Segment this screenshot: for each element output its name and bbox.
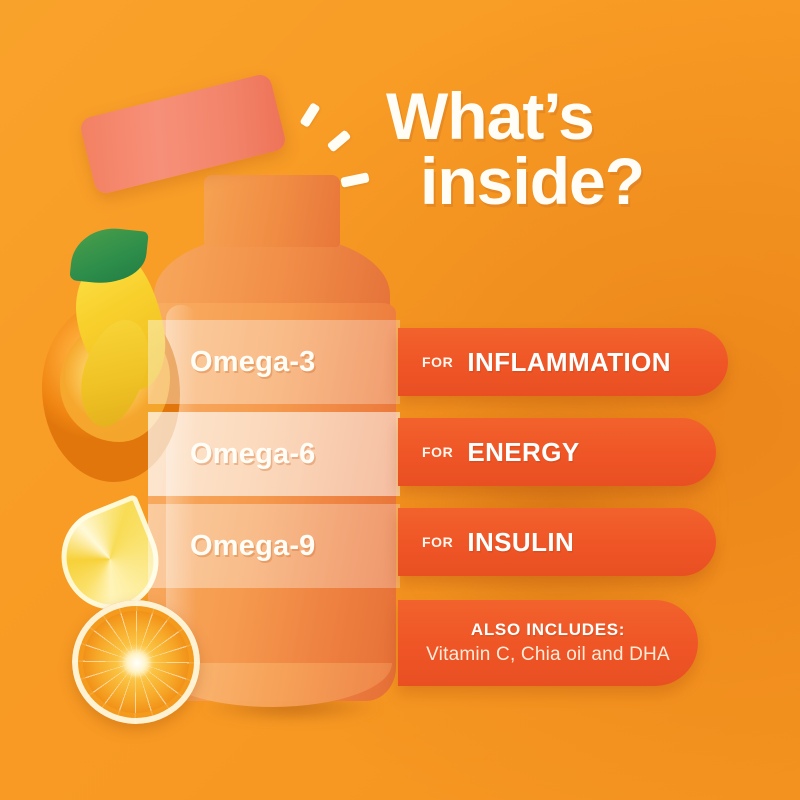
bottle-label-strip-omega-9: Omega-9 (148, 504, 400, 588)
omega-9-label: Omega-9 (190, 530, 316, 563)
omega-3-label: Omega-3 (190, 346, 316, 379)
benefit-pill-insulin: FOR INSULIN (398, 508, 716, 576)
benefit-prefix-label: FOR (422, 534, 453, 550)
headline-line-2: inside? (420, 149, 766, 214)
also-includes-items: Vitamin C, Chia oil and DHA (426, 644, 670, 666)
omega-6-label: Omega-6 (190, 438, 316, 471)
benefit-pill-energy: FOR ENERGY (398, 418, 716, 486)
sparkle-icon (299, 102, 320, 128)
also-includes-pill: ALSO INCLUDES: Vitamin C, Chia oil and D… (398, 600, 698, 686)
bottle-neck (204, 175, 340, 247)
bottle-label-strip-omega-6: Omega-6 (148, 412, 400, 496)
also-includes-title: ALSO INCLUDES: (471, 620, 625, 640)
sparkle-icon (327, 129, 352, 152)
benefit-value-inflammation: INFLAMMATION (467, 347, 671, 378)
benefit-value-insulin: INSULIN (467, 527, 574, 558)
bottle-label-strip-omega-3: Omega-3 (148, 320, 400, 404)
benefit-pill-inflammation: FOR INFLAMMATION (398, 328, 728, 396)
benefit-prefix-label: FOR (422, 354, 453, 370)
benefit-prefix-label: FOR (422, 444, 453, 460)
orange-slice-core (122, 648, 152, 678)
poster-canvas: What’s inside? Omega-3 Omega-6 Omega-9 F… (0, 0, 800, 800)
headline-line-1: What’s (386, 79, 594, 153)
benefit-value-energy: ENERGY (467, 437, 579, 468)
page-title: What’s inside? (386, 84, 766, 213)
